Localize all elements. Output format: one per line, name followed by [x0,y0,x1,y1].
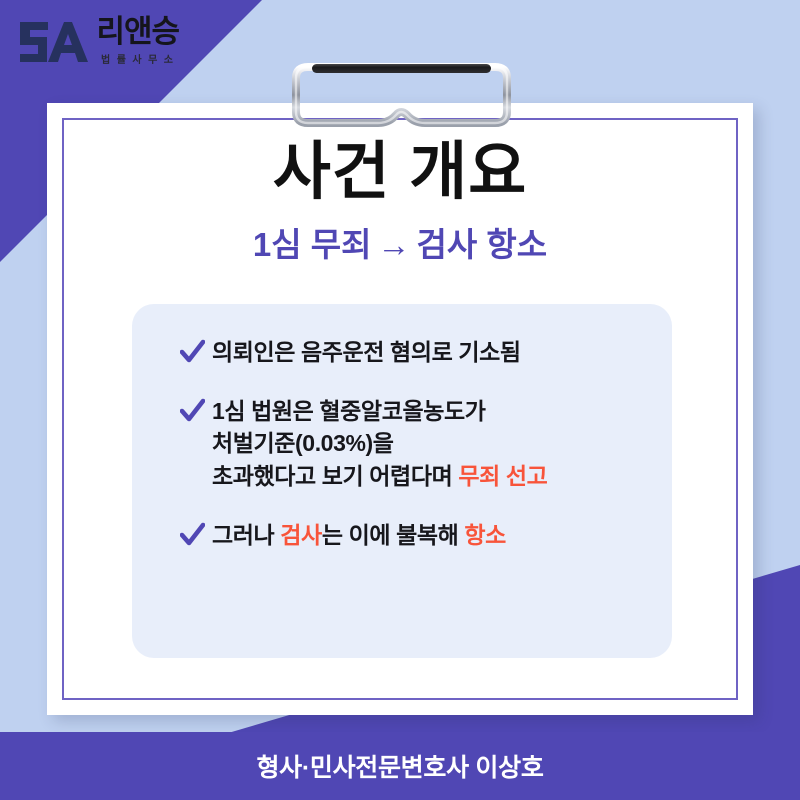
bullet-list: 의뢰인은 음주운전 혐의로 기소됨1심 법원은 혈중알코올농도가처벌기준(0.0… [180,336,654,551]
subtitle-before: 1심 무죄 [253,226,372,263]
content-card: 사건 개요 1심 무죄→검사 항소 의뢰인은 음주운전 혐의로 기소됨1심 법원… [47,103,753,715]
bullet-text: 의뢰인은 음주운전 혐의로 기소됨 [212,336,521,369]
bullet-text: 그러나 검사는 이에 불복해 항소 [212,519,506,552]
case-subtitle: 1심 무죄→검사 항소 [47,228,753,261]
footer-bar: 형사·민사전문변호사 이상호 [0,732,800,800]
brand-subtitle: 법률사무소 [101,51,180,66]
brand-name: 리앤승 [96,16,179,48]
clipboard-clip-icon [284,62,519,140]
page-title: 사건 개요 [47,141,753,204]
bullet-line: 1심 법원은 혈중알코올농도가 [212,395,547,428]
bullet-line: 그러나 검사는 이에 불복해 항소 [212,519,506,552]
plain-text: 1심 법원은 혈중알코올농도가 [212,398,486,424]
bullet-item: 의뢰인은 음주운전 혐의로 기소됨 [180,336,654,369]
infographic-canvas: 리앤승 법률사무소 사건 개요 1심 무죄→검사 항소 의뢰인은 음주운전 혐의… [0,0,800,800]
bullet-line: 초과했다고 보기 어렵다며 무죄 선고 [212,460,547,493]
summary-panel: 의뢰인은 음주운전 혐의로 기소됨1심 법원은 혈중알코올농도가처벌기준(0.0… [132,304,672,658]
highlight-text: 무죄 선고 [458,463,547,489]
plain-text: 그러나 [212,522,280,548]
bullet-line: 처벌기준(0.03%)을 [212,427,547,460]
plain-text: 처벌기준(0.03%)을 [212,430,394,456]
subtitle-after: 검사 항소 [417,226,548,263]
bullet-item: 1심 법원은 혈중알코올농도가처벌기준(0.03%)을초과했다고 보기 어렵다며… [180,395,654,493]
highlight-text: 항소 [464,522,506,548]
brand-logo: 리앤승 법률사무소 [18,16,180,68]
plain-text: 의뢰인은 음주운전 혐의로 기소됨 [212,339,521,365]
bullet-item: 그러나 검사는 이에 불복해 항소 [180,519,654,552]
highlight-text: 검사 [280,522,322,548]
bullet-line: 의뢰인은 음주운전 혐의로 기소됨 [212,336,521,369]
footer-text: 형사·민사전문변호사 이상호 [256,748,543,784]
check-icon [180,522,205,549]
lee-and-seung-monogram-icon [18,18,90,68]
arrow-icon: → [372,226,417,263]
check-icon [180,398,205,425]
check-icon [180,339,205,366]
plain-text: 는 이에 불복해 [322,522,465,548]
bullet-text: 1심 법원은 혈중알코올농도가처벌기준(0.03%)을초과했다고 보기 어렵다며… [212,395,547,493]
plain-text: 초과했다고 보기 어렵다며 [212,463,458,489]
